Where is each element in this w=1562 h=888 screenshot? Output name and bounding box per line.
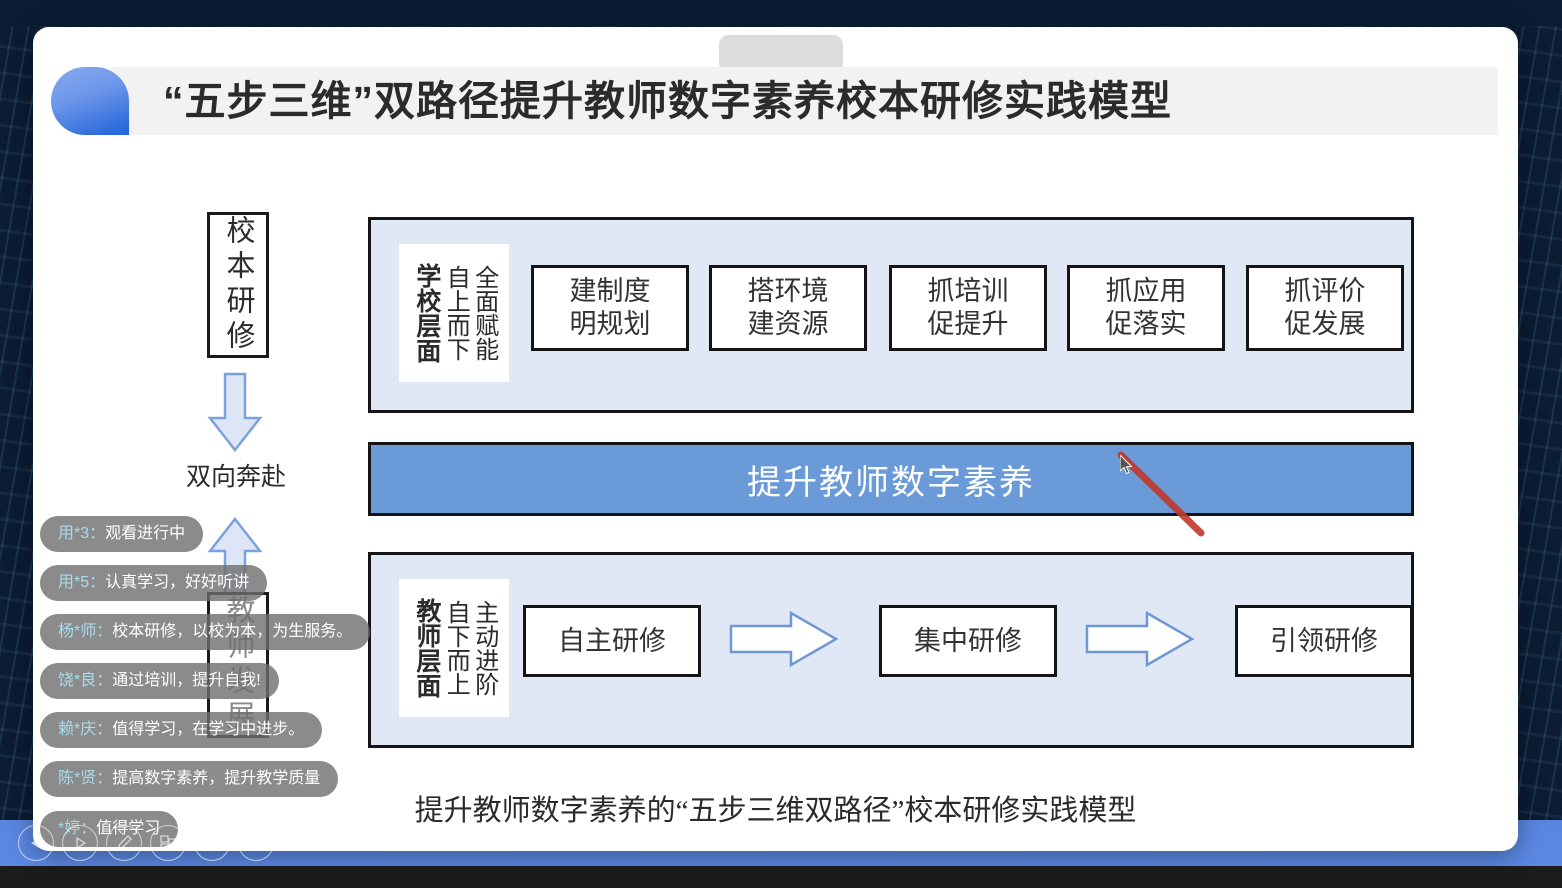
previous-icon[interactable]	[18, 825, 54, 861]
teacher-level-label-block: 主动进阶 自下而上 教师层面	[399, 579, 509, 717]
panel-school-level: 全面赋能 自上而下 学校层面 建制度 明规划 搭环境 建资源 抓培训 促提升 抓…	[368, 217, 1414, 413]
school-level-label-block: 全面赋能 自上而下 学校层面	[399, 244, 509, 382]
system-taskbar	[0, 866, 1562, 888]
school-step-1-line2: 明规划	[570, 308, 651, 341]
chat-nick: 杨*师：	[58, 623, 112, 640]
page-title: “五步三维”双路径提升教师数字素养校本研修实践模型	[163, 67, 1172, 135]
right-arrow-icon-2	[1085, 610, 1195, 668]
chat-bubble: 杨*师：校本研修，以校为本，为生服务。	[40, 614, 370, 650]
chat-text: 观看进行中	[105, 525, 185, 542]
teacher-step-1[interactable]: 自主研修	[523, 605, 701, 677]
chat-bubble: 赖*庆：值得学习，在学习中进步。	[40, 712, 322, 748]
slide-title-bar: “五步三维”双路径提升教师数字素养校本研修实践模型	[43, 67, 1498, 135]
layout-icon[interactable]	[150, 825, 186, 861]
school-step-5[interactable]: 抓评价 促发展	[1246, 265, 1404, 351]
right-arrow-icon-1	[729, 610, 839, 668]
school-step-4-line1: 抓应用	[1106, 275, 1187, 308]
teacher-step-2[interactable]: 集中研修	[879, 605, 1057, 677]
chat-nick: 陈*贤：	[58, 770, 112, 787]
school-step-4-line2: 促落实	[1106, 308, 1187, 341]
school-step-3-line2: 促提升	[928, 308, 1009, 341]
school-step-1[interactable]: 建制度 明规划	[531, 265, 689, 351]
school-step-5-line1: 抓评价	[1285, 275, 1366, 308]
chat-bubble: 用*3：观看进行中	[40, 516, 203, 552]
school-step-3-line1: 抓培训	[928, 275, 1009, 308]
chat-text: 提高数字素养，提升教学质量	[112, 770, 320, 787]
chat-nick: 饶*良：	[58, 672, 112, 689]
title-decoration-shape	[51, 67, 129, 135]
dual-direction-label: 双向奔赴	[181, 457, 291, 493]
next-icon[interactable]	[62, 825, 98, 861]
chat-text: 通过培训，提升自我!	[112, 672, 260, 689]
chat-bubble: 用*5：认真学习，好好听讲	[40, 565, 267, 601]
chat-text: 认真学习，好好听讲	[105, 574, 249, 591]
school-label-col2: 自上而下	[442, 265, 467, 361]
search-icon[interactable]	[194, 825, 230, 861]
chat-text: 校本研修，以校为本，为生服务。	[112, 623, 352, 640]
chat-nick: 赖*庆：	[58, 721, 112, 738]
chat-text: 值得学习，在学习中进步。	[112, 721, 304, 738]
teacher-label-col2: 自下而上	[442, 600, 467, 696]
panel-teacher-level: 主动进阶 自下而上 教师层面 自主研修 集中研修 引领研修	[368, 552, 1414, 748]
school-step-3[interactable]: 抓培训 促提升	[889, 265, 1047, 351]
teacher-label-col3: 主动进阶	[470, 600, 495, 696]
pen-icon[interactable]	[106, 825, 142, 861]
more-icon[interactable]	[238, 825, 274, 861]
left-box-school-research: 校本研修	[207, 212, 269, 358]
down-arrow-icon	[205, 372, 265, 452]
school-step-1-line1: 建制度	[570, 275, 651, 308]
teacher-label-col1: 教师层面	[412, 598, 439, 698]
teacher-step-3[interactable]: 引领研修	[1235, 605, 1413, 677]
player-toolbar	[18, 820, 274, 866]
school-step-4[interactable]: 抓应用 促落实	[1067, 265, 1225, 351]
school-label-col3: 全面赋能	[470, 265, 495, 361]
school-step-2[interactable]: 搭环境 建资源	[709, 265, 867, 351]
mouse-cursor-icon	[1120, 455, 1136, 477]
school-step-2-line2: 建资源	[748, 308, 829, 341]
chat-bubble: 饶*良：通过培训，提升自我!	[40, 663, 279, 699]
school-step-5-line2: 促发展	[1285, 308, 1366, 341]
chat-bubble: 陈*贤：提高数字素养，提升教学质量	[40, 761, 338, 797]
chat-nick: 用*5：	[58, 574, 105, 591]
center-banner: 提升教师数字素养	[368, 442, 1414, 516]
school-label-col1: 学校层面	[412, 263, 439, 363]
chat-nick: 用*3：	[58, 525, 105, 542]
school-step-2-line1: 搭环境	[748, 275, 829, 308]
